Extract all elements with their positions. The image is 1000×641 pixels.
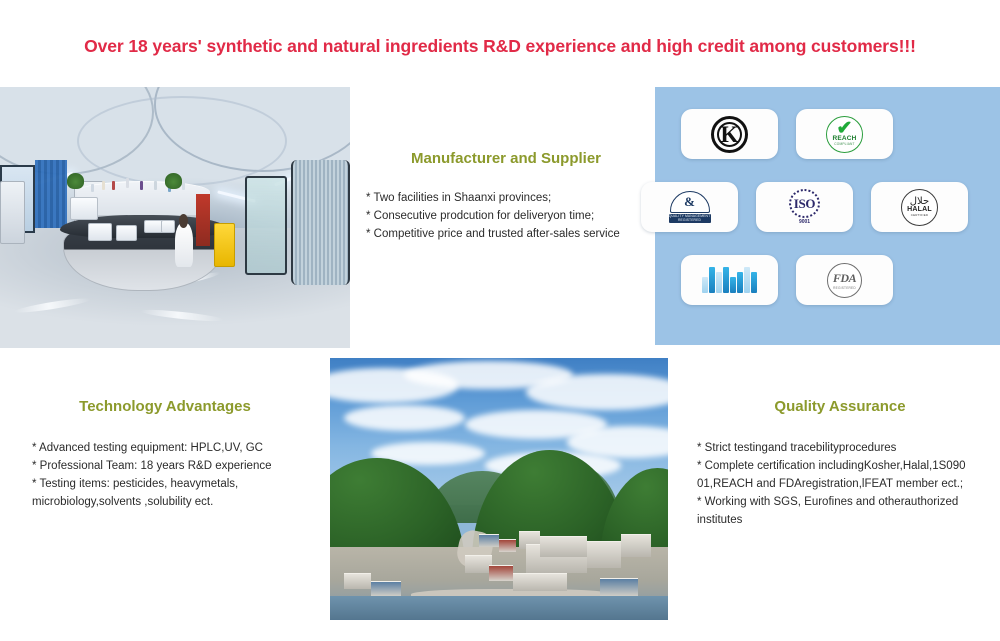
reagent-vial [91, 184, 94, 192]
glass-door [245, 176, 287, 275]
glass-partition [291, 160, 351, 285]
bullet: * Working with SGS, Eurofines and othera… [697, 493, 992, 511]
lab-technician [175, 223, 193, 267]
floor-reflection [140, 308, 224, 324]
lab-instrument [161, 220, 175, 233]
lab-curtain [35, 160, 67, 228]
halal-label: HALAL [907, 206, 932, 213]
iso-label: ISO [794, 196, 816, 212]
slide-page: Over 18 years' synthetic and natural ing… [0, 0, 1000, 641]
lab-technician-head [179, 214, 188, 228]
reagent-vial [112, 181, 115, 190]
building [621, 534, 651, 558]
ifeat-bar [709, 267, 715, 293]
bullet: * Complete certification includingKosher… [697, 457, 992, 475]
sgs-bar-label: QUALITY MANAGEMENT REGISTERED [669, 214, 711, 223]
bullet: microbiology,solvents ,solubility ect. [32, 493, 330, 511]
technology-title: Technology Advantages [0, 398, 330, 415]
ifeat-bar [716, 272, 722, 293]
halal-arabic-script: حلال [910, 197, 929, 206]
reagent-vial [102, 181, 105, 190]
bullet: * Strict testingand tracebilityprocedure… [697, 439, 992, 457]
ifeat-bar [702, 277, 708, 293]
iso-badge: ISO 9001 [756, 182, 853, 232]
quality-bullets: * Strict testingand tracebilityprocedure… [680, 439, 1000, 529]
bullet: * Professional Team: 18 years R&D experi… [32, 457, 330, 475]
kosher-icon [711, 116, 748, 153]
bullet: institutes [697, 511, 992, 529]
technology-section: Technology Advantages * Advanced testing… [0, 398, 330, 511]
building [371, 581, 401, 597]
halal-sublabel: CERTIFIED [911, 213, 929, 217]
floor-reflection [14, 296, 91, 315]
reagent-vial [154, 181, 157, 190]
iso-icon: ISO 9001 [783, 189, 827, 225]
safety-cabinet [214, 223, 235, 267]
lab-door [196, 194, 210, 246]
building [587, 541, 621, 567]
certification-row-3: FDA REGISTERED [681, 255, 893, 305]
bullet: 01,REACH and FDAregistration,lFEAT membe… [697, 475, 992, 493]
reach-badge: ✔ REACH COMPLIANT [796, 109, 893, 159]
sgs-quality-badge: & QUALITY MANAGEMENT REGISTERED [641, 182, 738, 232]
river [330, 596, 668, 620]
halal-icon: حلال HALAL CERTIFIED [901, 189, 938, 226]
building [600, 578, 637, 596]
certification-row-1: ✔ REACH COMPLIANT [681, 109, 893, 159]
reach-icon: ✔ REACH COMPLIANT [826, 116, 863, 153]
building [489, 565, 513, 581]
page-title: Over 18 years' synthetic and natural ing… [0, 36, 1000, 57]
reach-label: REACH [832, 135, 856, 142]
manufacturer-section: Manufacturer and Supplier * Two faciliti… [366, 150, 646, 243]
aerial-town-panorama-photo [330, 358, 668, 620]
fda-label: FDA [833, 271, 856, 286]
certifications-panel: ✔ REACH COMPLIANT & QUALITY MANAGEMENT R… [655, 87, 1000, 345]
lab-instrument [70, 197, 98, 220]
laboratory-panorama-photo [0, 87, 350, 348]
fda-badge: FDA REGISTERED [796, 255, 893, 305]
lab-instrument [88, 223, 113, 241]
building [479, 534, 499, 547]
sgs-mark: & [670, 191, 710, 213]
ifeat-bar [751, 272, 757, 293]
check-icon: ✔ [837, 122, 853, 135]
lab-instrument [116, 225, 137, 241]
reagent-vial [182, 181, 185, 190]
ceiling-arc [77, 96, 287, 187]
building [344, 573, 371, 589]
ifeat-bar [730, 277, 736, 293]
building [540, 536, 587, 557]
ifeat-bar [744, 267, 750, 293]
ifeat-bar [737, 272, 743, 293]
kosher-inner-ring [717, 122, 742, 147]
manufacturer-bullets: * Two facilities in Shaanxi provinces; *… [366, 189, 646, 243]
lab-plant [67, 173, 85, 189]
quality-title: Quality Assurance [680, 398, 1000, 415]
technology-bullets: * Advanced testing equipment: HPLC,UV, G… [0, 439, 330, 511]
certification-row-2: & QUALITY MANAGEMENT REGISTERED ISO 9001… [641, 182, 968, 232]
quality-section: Quality Assurance * Strict testingand tr… [680, 398, 1000, 529]
reach-sublabel: COMPLIANT [834, 142, 854, 146]
ifeat-badge [681, 255, 778, 305]
lab-plant [165, 173, 183, 189]
building [513, 573, 567, 591]
building [499, 539, 516, 552]
manufacturer-title: Manufacturer and Supplier [366, 150, 646, 167]
reagent-vial [126, 178, 129, 188]
bullet: * Testing items: pesticides, heavymetals… [32, 475, 330, 493]
sgs-icon: & QUALITY MANAGEMENT REGISTERED [669, 191, 711, 224]
bullet: * Advanced testing equipment: HPLC,UV, G… [32, 439, 330, 457]
lab-cabinet [0, 181, 25, 244]
reagent-vial [140, 181, 143, 190]
kosher-badge [681, 109, 778, 159]
fda-icon: FDA REGISTERED [827, 263, 862, 298]
ifeat-bar [723, 267, 729, 293]
bullet: * Two facilities in Shaanxi provinces; [366, 189, 646, 207]
halal-badge: حلال HALAL CERTIFIED [871, 182, 968, 232]
fda-sublabel: REGISTERED [833, 286, 856, 290]
iso-number: 9001 [799, 219, 810, 225]
bullet: * Consecutive prodcution for deliveryon … [366, 207, 646, 225]
iso-circle: ISO [789, 189, 820, 218]
bullet: * Competitive price and trusted after-sa… [366, 225, 646, 243]
ifeat-icon [702, 267, 757, 293]
